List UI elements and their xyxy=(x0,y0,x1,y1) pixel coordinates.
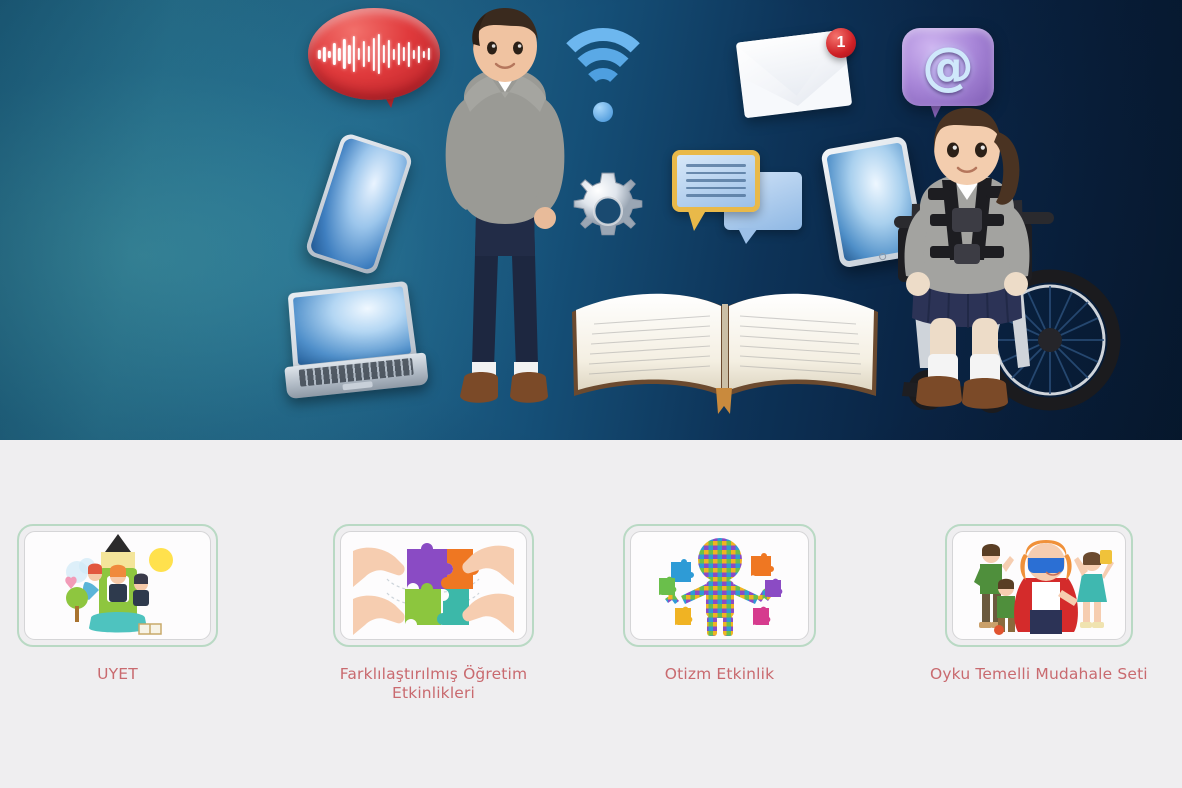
envelope-icon: 1 xyxy=(740,36,848,112)
resource-card-otizm-etkinlik[interactable]: Otizm Etkinlik xyxy=(623,524,816,684)
resource-card-farklilastirilmis-ogretim[interactable]: Farklılaştırılmış Öğretim Etkinlikleri xyxy=(333,524,534,704)
card-thumbnail xyxy=(952,531,1126,640)
at-sign-glyph: @ xyxy=(902,28,994,106)
card-thumbnail xyxy=(630,531,809,640)
card-thumbnail xyxy=(340,531,527,640)
waveform-bars xyxy=(318,34,430,74)
resource-card-uyet[interactable]: UYET xyxy=(17,524,218,684)
card-frame[interactable] xyxy=(623,524,816,647)
superhero-teacher-children-icon xyxy=(964,532,1114,640)
card-frame[interactable] xyxy=(17,524,218,647)
open-book-icon xyxy=(566,276,884,416)
page-root: 1 @ xyxy=(0,0,1182,788)
hands-puzzle-pieces-icon xyxy=(351,531,516,640)
chat-text-lines xyxy=(686,164,746,202)
card-label: Otizm Etkinlik xyxy=(665,665,774,684)
laptop-trackpad xyxy=(342,381,372,390)
wifi-dot xyxy=(593,102,613,122)
girl-in-wheelchair xyxy=(868,104,1128,440)
children-playground-pencil-icon xyxy=(43,532,193,640)
at-sign-speech-bubble-icon: @ xyxy=(902,28,994,106)
card-frame[interactable] xyxy=(333,524,534,647)
resource-card-oyku-temelli-mudahale[interactable]: Oyku Temelli Mudahale Seti xyxy=(930,524,1148,684)
card-frame[interactable] xyxy=(945,524,1133,647)
card-thumbnail xyxy=(24,531,211,640)
chat-bubble-front xyxy=(672,150,760,212)
boy-standing xyxy=(420,6,590,440)
resource-card-grid: UYET xyxy=(0,440,1182,788)
laptop-screen xyxy=(293,286,411,365)
autism-puzzle-child-icon xyxy=(641,532,799,640)
hero-banner: 1 @ xyxy=(0,0,1182,440)
card-label: Farklılaştırılmış Öğretim Etkinlikleri xyxy=(340,665,527,704)
notification-badge: 1 xyxy=(826,28,856,58)
laptop-icon xyxy=(277,279,430,405)
card-label: UYET xyxy=(97,665,138,684)
card-label: Oyku Temelli Mudahale Seti xyxy=(930,665,1148,684)
chat-bubbles-icon xyxy=(672,150,802,250)
